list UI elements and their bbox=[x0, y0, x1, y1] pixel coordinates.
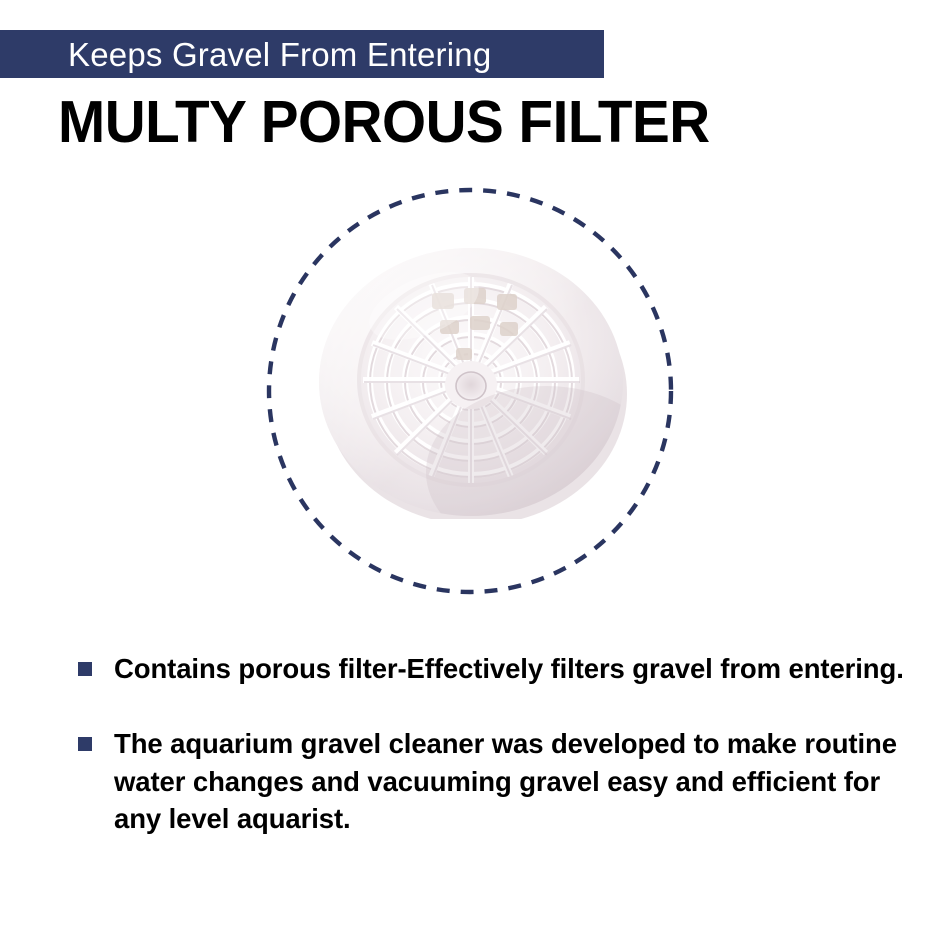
feature-text-2: The aquarium gravel cleaner was develope… bbox=[114, 725, 904, 837]
list-item: The aquarium gravel cleaner was develope… bbox=[78, 725, 928, 837]
product-center-hole bbox=[456, 372, 486, 400]
header-banner-text: Keeps Gravel From Entering bbox=[68, 38, 491, 71]
feature-text-1: Contains porous filter-Effectively filte… bbox=[114, 650, 904, 687]
feature-bullet-2 bbox=[78, 737, 92, 751]
hero-image-region bbox=[0, 160, 940, 630]
porous-filter-cap-illustration bbox=[314, 244, 629, 519]
feature-bullet-1 bbox=[78, 662, 92, 676]
page-title: MULTY POROUS FILTER bbox=[58, 92, 710, 154]
list-item: Contains porous filter-Effectively filte… bbox=[78, 650, 928, 687]
header-banner: Keeps Gravel From Entering bbox=[0, 30, 604, 78]
product-image bbox=[314, 244, 629, 519]
feature-list: Contains porous filter-Effectively filte… bbox=[78, 650, 928, 876]
product-infographic-page: Keeps Gravel From Entering MULTY POROUS … bbox=[0, 0, 940, 940]
